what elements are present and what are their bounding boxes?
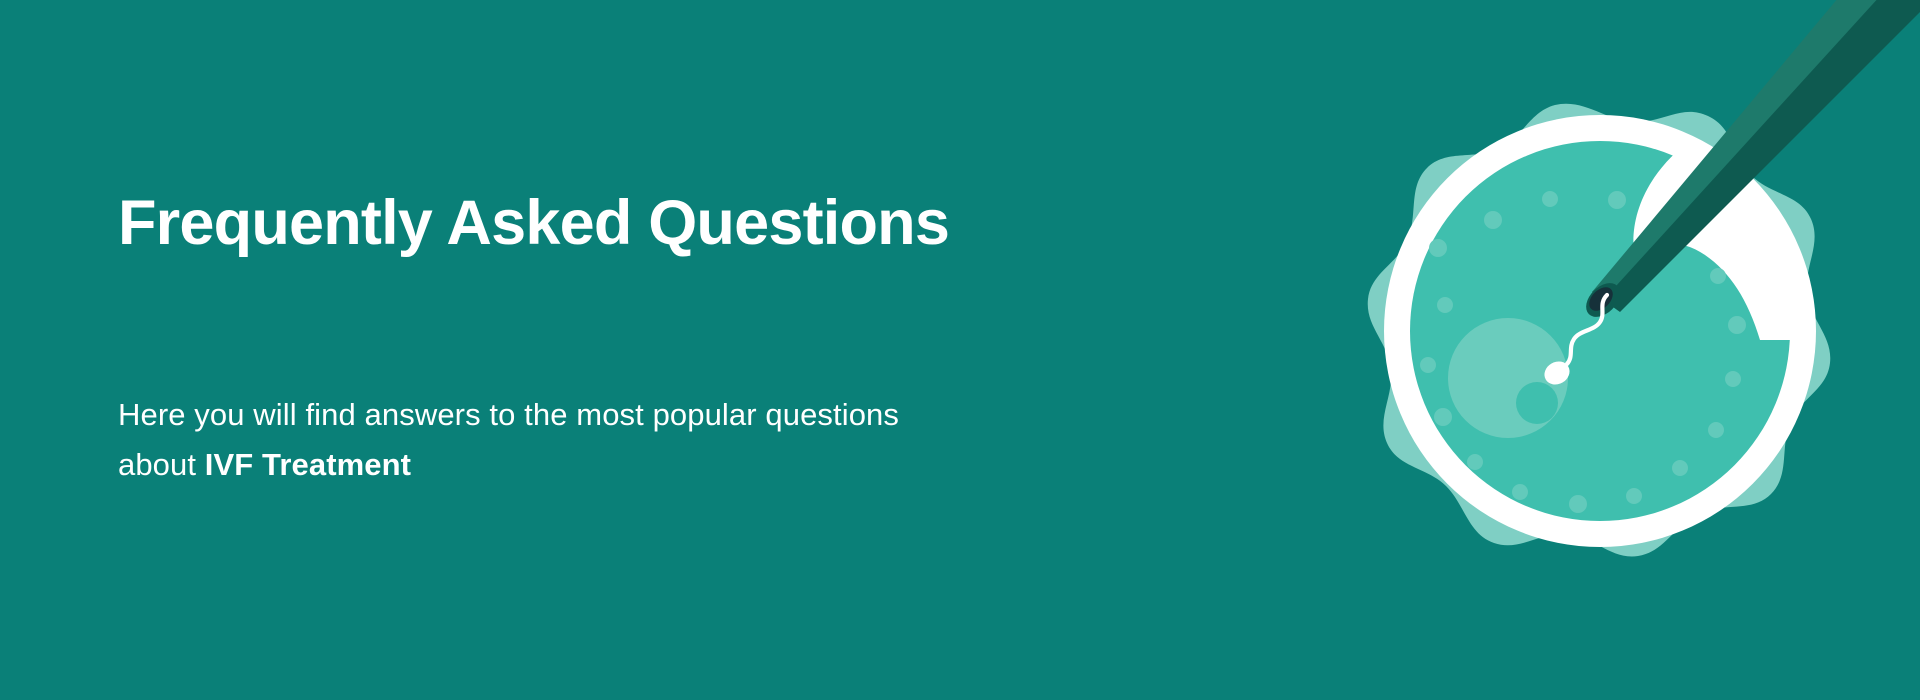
hero-subtitle: Here you will find answers to the most p…: [118, 390, 978, 490]
faq-hero-banner: Frequently Asked Questions Here you will…: [0, 0, 1920, 700]
subtitle-emphasis-ivf-treatment: IVF Treatment: [205, 447, 411, 482]
illustration-svg: [1160, 0, 1920, 700]
nucleolus: [1516, 382, 1558, 424]
page-title: Frequently Asked Questions: [118, 190, 1098, 256]
hero-text-block: Frequently Asked Questions Here you will…: [118, 190, 1098, 256]
ivf-egg-injection-illustration: [1160, 0, 1920, 700]
